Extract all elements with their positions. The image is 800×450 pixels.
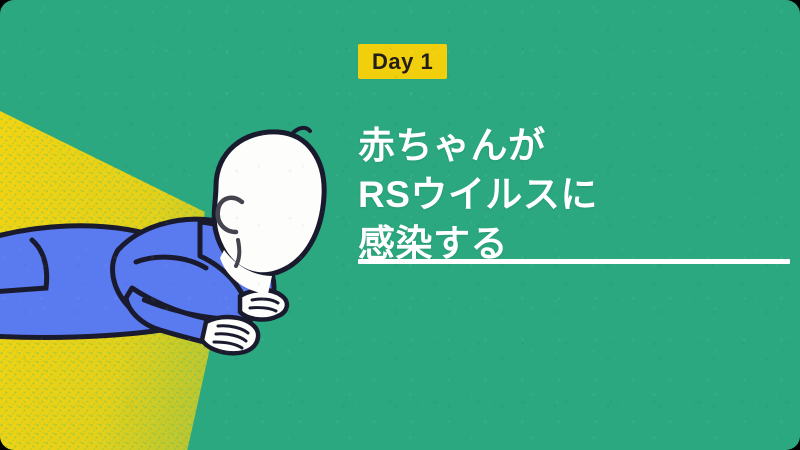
headline-line-1: 赤ちゃんが <box>358 121 598 170</box>
day-badge-label: Day 1 <box>372 51 433 73</box>
baby-hair-tuft <box>292 128 310 134</box>
slide-card: Day 1 赤ちゃんが RSウイルスに 感染する <box>0 0 800 450</box>
headline: 赤ちゃんが RSウイルスに 感染する <box>358 121 598 268</box>
baby-near-hand <box>202 317 258 353</box>
baby-head <box>214 132 324 275</box>
baby-far-hand <box>240 290 287 319</box>
headline-line-2: RSウイルスに <box>358 170 598 219</box>
text-column: Day 1 赤ちゃんが RSウイルスに 感染する <box>358 0 800 450</box>
baby-illustration <box>0 0 340 450</box>
headline-divider <box>358 259 790 264</box>
day-badge: Day 1 <box>358 44 447 79</box>
